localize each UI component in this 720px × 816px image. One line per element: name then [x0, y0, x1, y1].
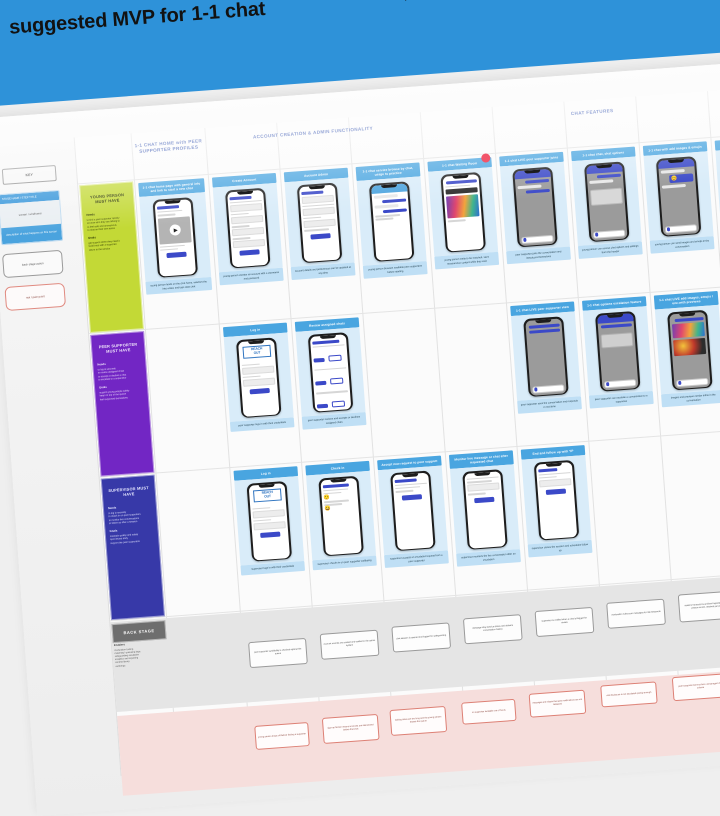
- story-card[interactable]: 1-1 chat chat, chat options young person…: [571, 147, 643, 259]
- story-card[interactable]: 1-1 chat with add images & emojis 😊 youn…: [643, 141, 715, 253]
- phone-mockup: REACHOUT: [234, 476, 304, 565]
- story-card[interactable]: Account Admin: [284, 168, 356, 280]
- agenda-list: 1-1 CHAT HOME with PROFILES ( ACCOUNT CR…: [389, 0, 720, 7]
- story-card[interactable]: 1-1 chat LIVE peer supporter joins peer …: [499, 152, 571, 264]
- phone-mockup: [285, 178, 355, 267]
- screen-heading: [157, 205, 179, 210]
- follow-up-button[interactable]: [546, 489, 565, 495]
- password-field[interactable]: [254, 521, 286, 530]
- legend-key: KEY STAGE NAME / STEP TITLE screen / wir…: [0, 165, 72, 311]
- message-input[interactable]: [532, 384, 565, 393]
- input-field[interactable]: [302, 194, 334, 203]
- image-preview: [673, 338, 706, 356]
- reach-out-logo: REACHOUT: [242, 344, 271, 358]
- story-card[interactable]: End and follow up with YP supervisor clo…: [521, 445, 593, 557]
- backstage-enablers: Enablers moderation tooling matching / q…: [114, 640, 166, 668]
- emoji-icon: 😊: [671, 175, 678, 181]
- risk-card[interactable]: sign-up friction means accounts are aban…: [322, 714, 380, 744]
- message-input[interactable]: [604, 379, 637, 388]
- story-card[interactable]: 1-1 chat options escalation feature peer…: [582, 296, 654, 408]
- message-input[interactable]: [676, 377, 709, 386]
- username-field[interactable]: [253, 509, 285, 518]
- illustration: [446, 194, 479, 218]
- message-input[interactable]: [664, 224, 697, 233]
- decline-button[interactable]: [332, 401, 345, 408]
- decline-button[interactable]: [329, 354, 342, 361]
- story-card[interactable]: Log in REACHOUT supervisor: [234, 466, 305, 575]
- accept-button[interactable]: [402, 494, 421, 500]
- password-field[interactable]: [243, 377, 275, 386]
- options-sheet[interactable]: [590, 188, 623, 206]
- phone-mockup: [378, 466, 448, 555]
- escalation-panel[interactable]: [601, 333, 634, 349]
- accept-button[interactable]: [317, 404, 328, 409]
- risk-card[interactable]: waiting times are too long and the young…: [389, 706, 447, 736]
- video-thumbnail[interactable]: [158, 216, 192, 244]
- login-button[interactable]: [261, 532, 280, 538]
- decline-button[interactable]: [330, 378, 343, 385]
- lane-label-peer-supporter: PEER SUPPORTER MUST HAVE Needs to log in…: [90, 331, 154, 477]
- input-field[interactable]: [232, 227, 264, 236]
- phone-mockup: [213, 183, 283, 272]
- legend-risk-card: risk / pain point: [4, 283, 66, 311]
- legend-key-title: KEY: [2, 165, 57, 185]
- lane-label-backstage: BACK STAGE: [111, 620, 166, 643]
- phone-mockup: 🙂 😀: [306, 471, 376, 560]
- backstage-card[interactable]: chat session is opened and logged for sa…: [391, 622, 451, 652]
- input-field[interactable]: [233, 239, 265, 248]
- story-card[interactable]: 1-1 chat home page with general info and…: [138, 178, 212, 295]
- phone-mockup: [139, 192, 211, 282]
- input-field[interactable]: [230, 203, 262, 212]
- journey-map-frame: 1-1 CHAT HOME with PEER SUPPORTER PROFIL…: [74, 87, 720, 776]
- agenda-item: PEER SUPPORTER & SUPERVISOR (20MINS): [393, 0, 720, 6]
- login-button[interactable]: [250, 388, 269, 394]
- legend-sample-note: description of what happens on this scre…: [1, 224, 62, 244]
- input-field[interactable]: [303, 219, 335, 228]
- phone-mockup: [296, 327, 366, 416]
- phone-mockup: [450, 464, 520, 553]
- phone-notch: [259, 484, 275, 488]
- phone-mockup: REACHOUT: [224, 333, 294, 422]
- phone-mockup: 😊: [644, 151, 714, 240]
- risk-card[interactable]: young person drops off before finding a …: [254, 722, 310, 750]
- risk-card[interactable]: peer supporter burnout from unmanaged ch…: [672, 673, 720, 701]
- monitor-button[interactable]: [475, 497, 494, 503]
- message-input[interactable]: [593, 229, 626, 238]
- story-card[interactable]: Review assigned chats: [295, 317, 367, 429]
- phone-mockup: [655, 305, 720, 394]
- play-icon[interactable]: [169, 224, 181, 236]
- submit-button[interactable]: [240, 250, 259, 256]
- phone-mockup: [511, 311, 581, 400]
- image-preview: [672, 322, 705, 338]
- start-chat-button[interactable]: [167, 252, 186, 258]
- group-header-chat-home: 1-1 CHAT HOME with PEER SUPPORTER PROFIL…: [131, 138, 207, 177]
- save-button[interactable]: [311, 233, 330, 239]
- input-field[interactable]: [231, 215, 263, 224]
- legend-backstage-card: back stage action: [2, 250, 64, 278]
- lane-label-young-person: YOUNG PERSON MUST HAVE Needs to find a p…: [79, 181, 144, 333]
- story-card[interactable]: 1-1 chat LIVE add images, emojis / one-w…: [654, 291, 720, 407]
- risk-card[interactable]: no supporter available out of hours: [461, 699, 516, 725]
- legend-key-label: KEY: [25, 173, 33, 178]
- phone-mockup: [428, 167, 498, 256]
- story-card[interactable]: 1-1 chat service browse by chat, usage t…: [356, 162, 428, 278]
- phone-mockup: [572, 157, 642, 246]
- username-field[interactable]: [242, 365, 274, 374]
- phone-mockup: [521, 455, 591, 544]
- story-caption: END CHAT, send a note to YP: [715, 136, 720, 151]
- story-card[interactable]: Accept new request to peer support super…: [377, 456, 449, 568]
- emoji-icon: 😀: [325, 505, 357, 512]
- backstage-card[interactable]: account records are created and verified…: [320, 630, 380, 660]
- backstage-card[interactable]: peer supporter availability is checked a…: [248, 638, 308, 668]
- accept-button[interactable]: [315, 381, 326, 386]
- input-field[interactable]: [303, 207, 335, 216]
- accept-button[interactable]: [314, 358, 325, 363]
- message-input[interactable]: [521, 234, 554, 243]
- lane-label-supervisor: SUPERVISOR MUST HAVE Needs to log in sec…: [101, 475, 165, 621]
- phone-mockup: [357, 177, 427, 266]
- story-card[interactable]: 1-1 chat Waiting Room young person wai: [427, 157, 499, 269]
- board-surface: KEY STAGE NAME / STEP TITLE screen / wir…: [0, 60, 720, 816]
- story-card[interactable]: 1-1 chat LIVE peer supporter view peer s…: [510, 301, 582, 413]
- risk-card[interactable]: messages are missed because notification…: [529, 690, 587, 718]
- backstage-card[interactable]: message relay service stores and deliver…: [463, 614, 523, 644]
- story-card[interactable]: Log in REACHOUT peer suppo: [223, 323, 294, 432]
- story-card[interactable]: Create Account young pe: [212, 173, 284, 285]
- phone-mockup: [500, 162, 570, 251]
- story-card[interactable]: Check in 🙂 😀 supervisor: [305, 461, 376, 570]
- risk-card[interactable]: risk disclosure is not escalated quickly…: [600, 681, 657, 707]
- legend-sample-story-card: STAGE NAME / STEP TITLE screen / wirefra…: [0, 190, 63, 245]
- page-title: suggested MVP for 1-1 chat: [8, 0, 266, 40]
- story-card[interactable]: Monitor live message or chat after reque…: [449, 450, 521, 566]
- whiteboard-canvas[interactable]: KEY STAGE NAME / STEP TITLE screen / wir…: [0, 60, 720, 816]
- phone-notch: [248, 340, 264, 344]
- backstage-card[interactable]: moderation rules scan messages for risk …: [606, 599, 666, 629]
- backstage-card[interactable]: supervisor is notified when a chat is fl…: [535, 607, 595, 637]
- backstage-card[interactable]: session transcript is archived against t…: [678, 590, 720, 622]
- reach-out-logo: REACHOUT: [253, 488, 282, 502]
- phone-mockup: [583, 306, 653, 395]
